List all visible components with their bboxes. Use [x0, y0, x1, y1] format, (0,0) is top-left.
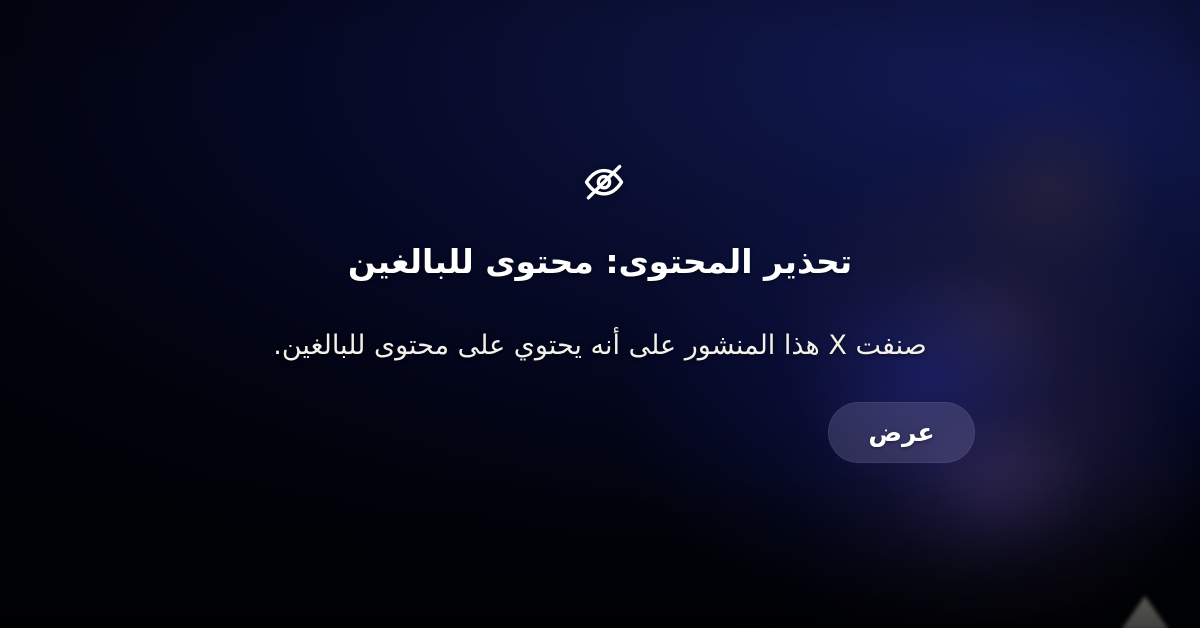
eye-off-icon: [578, 158, 630, 206]
view-button[interactable]: عرض: [828, 402, 975, 463]
warning-description: صنفت X هذا المنشور على أنه يحتوي على محت…: [225, 327, 975, 364]
page-title: تحذير المحتوى: محتوى للبالغين: [225, 240, 975, 284]
content-warning-overlay: تحذير المحتوى: محتوى للبالغين صنفت X هذا…: [0, 0, 1200, 628]
overlay-content: تحذير المحتوى: محتوى للبالغين صنفت X هذا…: [0, 0, 1200, 628]
